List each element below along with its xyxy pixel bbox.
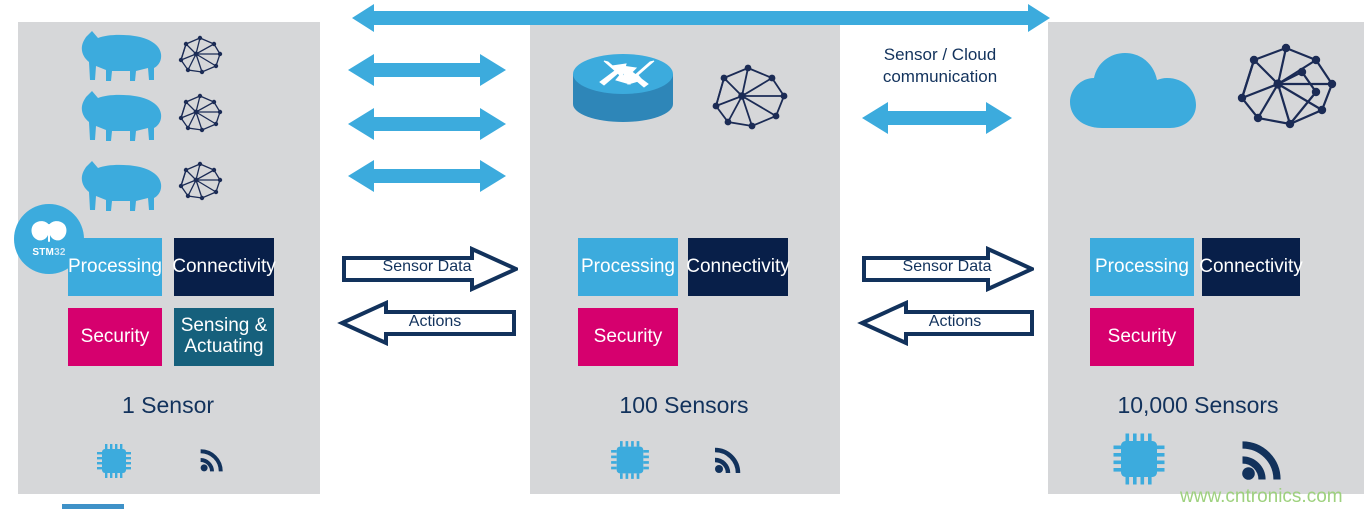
microchip-icon [96,443,132,479]
sensor-data-arrow-label: Sensor Data [352,258,502,276]
sensor-count-label: 100 Sensors [554,392,814,419]
capability-processing[interactable]: Processing [68,238,162,296]
microchip-icon [1112,432,1166,486]
cow-icon [78,28,164,84]
capability-security[interactable]: Security [578,308,678,366]
brain-network-icon [708,62,790,132]
bidirectional-span-arrow-icon [352,2,1050,34]
capability-processing[interactable]: Processing [1090,238,1194,296]
diagram-canvas: g Sensor / Cloud communication Sensor Da… [0,0,1364,512]
brain-network-icon [1232,40,1340,132]
router-icon [568,46,678,132]
site-watermark: www.cntronics.com [1180,486,1343,508]
cow-icon [78,88,164,144]
stm32-label-dim: 32 [54,247,66,258]
capability-connectivity[interactable]: Connectivity [688,238,788,296]
sensor-cloud-communication-label: Sensor / Cloud communication [855,44,1025,88]
capability-security[interactable]: Security [68,308,162,366]
cow-icon [78,158,164,214]
brain-network-icon [176,160,224,202]
capability-connectivity[interactable]: Connectivity [174,238,274,296]
wireless-signal-icon [198,446,226,474]
brain-network-icon [176,92,224,134]
capability-processing[interactable]: Processing [578,238,678,296]
stm32-label-bold: STM [32,247,54,258]
capability-connectivity[interactable]: Connectivity [1202,238,1300,296]
butterfly-icon [29,220,69,246]
actions-arrow-label: Actions [360,313,510,331]
sensor-count-label: 1 Sensor [38,392,298,419]
actions-arrow-label: Actions [880,313,1030,331]
capability-sensing-actuating[interactable]: Sensing & Actuating [174,308,274,366]
stm32-badge-label: STM32 [32,247,65,258]
wireless-signal-icon [712,444,744,476]
bidirectional-arrow-icon [862,100,1012,136]
cloud-icon [1068,50,1198,132]
comm-label-line2: communication [855,66,1025,88]
sensor-count-label: 10,000 Sensors [1068,392,1328,419]
wireless-signal-icon [1238,436,1286,484]
bidirectional-arrow-icon [348,52,506,88]
microchip-icon [610,440,650,480]
sensor-data-arrow-label: Sensor Data [872,258,1022,276]
comm-label-line1: Sensor / Cloud [855,44,1025,66]
brain-network-icon [176,34,224,76]
bidirectional-arrow-icon [348,158,506,194]
bidirectional-arrow-icon [348,106,506,142]
bottom-accent-bar [62,504,124,509]
capability-security[interactable]: Security [1090,308,1194,366]
